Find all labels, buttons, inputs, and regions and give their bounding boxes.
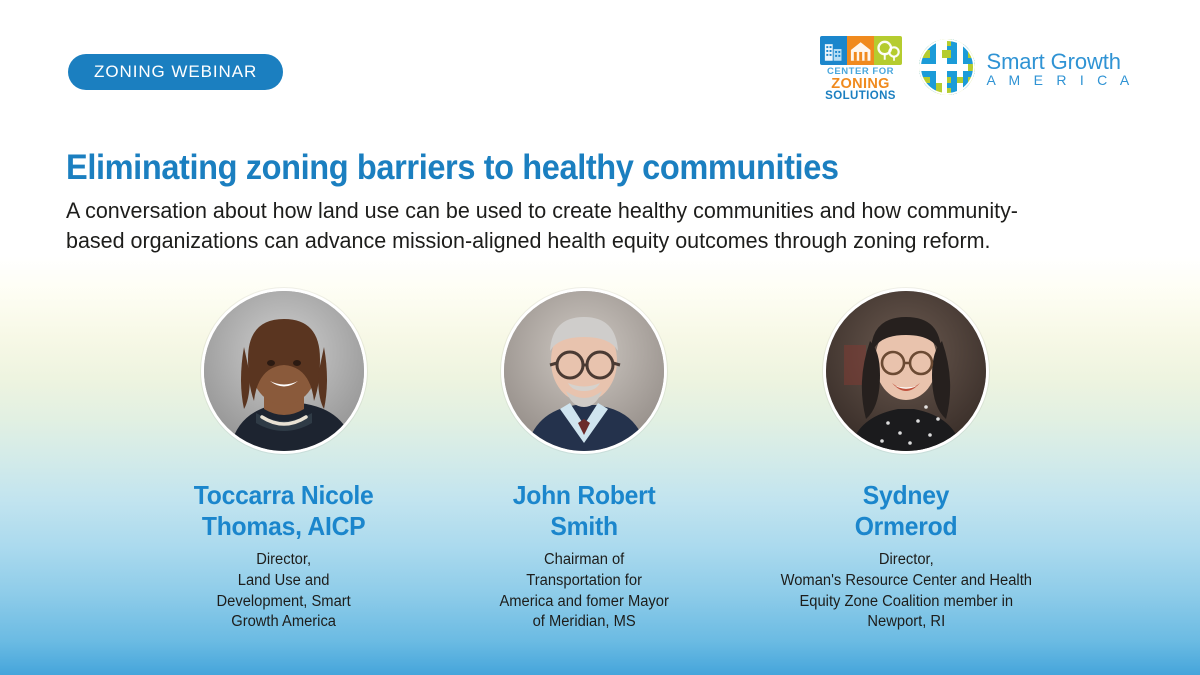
portrait-toccarra-nicole-thomas xyxy=(201,288,367,454)
portrait-john-robert-smith xyxy=(501,288,667,454)
page-subtitle: A conversation about how land use can be… xyxy=(66,196,1031,256)
sga-line-1: Smart Growth xyxy=(987,50,1134,73)
webinar-slide: ZONING WEBINAR xyxy=(0,0,1200,675)
zoning-webinar-badge: ZONING WEBINAR xyxy=(68,54,283,90)
speaker-card: John Robert Smith Chairman of Transporta… xyxy=(434,288,734,633)
logo-group: CENTER FOR ZONING SOLUTIONS xyxy=(820,36,1134,103)
sga-line-2: A M E R I C A xyxy=(987,73,1134,88)
czs-panel-house-icon xyxy=(847,36,874,65)
speaker-role: Director, Land Use and Development, Smar… xyxy=(217,550,351,632)
speaker-name: Toccarra Nicole Thomas, AICP xyxy=(194,480,374,541)
czs-logo-wordmark: CENTER FOR ZONING SOLUTIONS xyxy=(825,67,896,103)
speaker-card: Toccarra Nicole Thomas, AICP Director, L… xyxy=(134,288,434,633)
czs-line-2: ZONING xyxy=(831,77,890,92)
speaker-name: John Robert Smith xyxy=(513,480,656,541)
speaker-name: Sydney Ormerod xyxy=(855,480,958,541)
czs-line-3: SOLUTIONS xyxy=(825,91,896,103)
czs-panel-trees-icon xyxy=(874,36,901,65)
sga-wordmark: Smart Growth A M E R I C A xyxy=(987,50,1134,88)
speaker-role: Director, Woman's Resource Center and He… xyxy=(780,550,1031,632)
speaker-role: Chairman of Transportation for America a… xyxy=(499,550,668,632)
badge-label: ZONING WEBINAR xyxy=(94,62,257,82)
sga-weave-mark-icon xyxy=(918,38,976,101)
speaker-list: Toccarra Nicole Thomas, AICP Director, L… xyxy=(0,288,1200,633)
page-title: Eliminating zoning barriers to healthy c… xyxy=(66,148,1061,188)
portrait-sydney-ormerod xyxy=(823,288,989,454)
smart-growth-america-logo: Smart Growth A M E R I C A xyxy=(918,38,1134,101)
speaker-card: Sydney Ormerod Director, Woman's Resourc… xyxy=(756,288,1056,633)
center-for-zoning-solutions-logo: CENTER FOR ZONING SOLUTIONS xyxy=(820,36,902,103)
czs-logo-art xyxy=(820,36,902,65)
czs-panel-buildings-icon xyxy=(820,36,847,65)
